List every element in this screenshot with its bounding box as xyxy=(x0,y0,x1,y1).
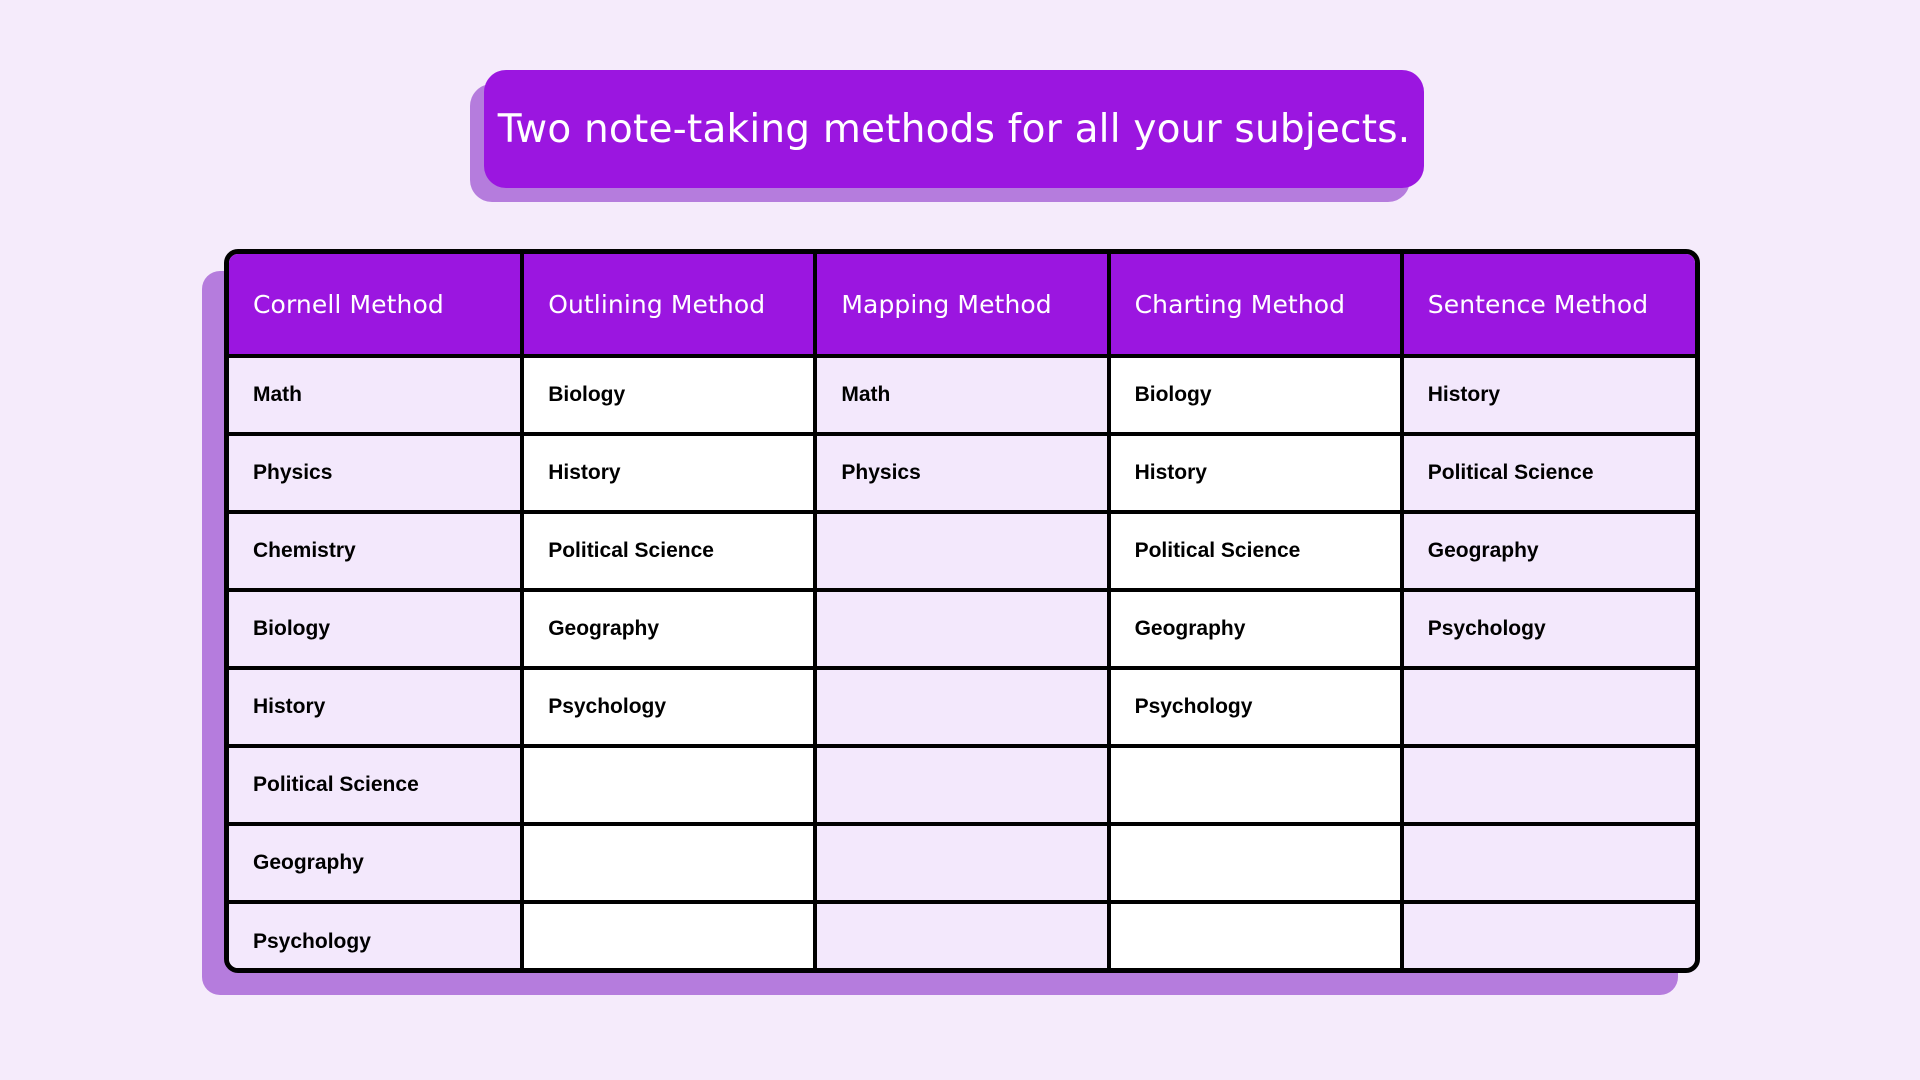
table-cell: Physics xyxy=(229,434,522,512)
methods-table-frame: Cornell MethodOutlining MethodMapping Me… xyxy=(224,249,1700,973)
methods-table-container: Cornell MethodOutlining MethodMapping Me… xyxy=(224,249,1700,973)
table-cell xyxy=(1109,902,1402,973)
table-cell: Chemistry xyxy=(229,512,522,590)
table-column-header-2[interactable]: Outlining Method xyxy=(522,254,815,356)
table-cell xyxy=(815,902,1108,973)
table-cell: Geography xyxy=(229,824,522,902)
table-cell: Political Science xyxy=(1109,512,1402,590)
table-cell xyxy=(1402,668,1695,746)
table-row: HistoryPsychologyPsychology xyxy=(229,668,1695,746)
table-cell xyxy=(815,590,1108,668)
table-cell: Psychology xyxy=(522,668,815,746)
table-column-header-5[interactable]: Sentence Method xyxy=(1402,254,1695,356)
table-body: MathBiologyMathBiologyHistoryPhysicsHist… xyxy=(229,356,1695,973)
table-cell xyxy=(522,902,815,973)
page-title: Two note-taking methods for all your sub… xyxy=(498,107,1411,152)
table-cell: History xyxy=(522,434,815,512)
table-cell xyxy=(815,746,1108,824)
table-cell: History xyxy=(229,668,522,746)
table-cell: Physics xyxy=(815,434,1108,512)
table-cell xyxy=(815,512,1108,590)
table-cell xyxy=(522,824,815,902)
table-cell xyxy=(1109,746,1402,824)
table-cell xyxy=(1109,824,1402,902)
table-header-row: Cornell MethodOutlining MethodMapping Me… xyxy=(229,254,1695,356)
table-row: PhysicsHistoryPhysicsHistoryPolitical Sc… xyxy=(229,434,1695,512)
table-cell: Biology xyxy=(229,590,522,668)
table-cell xyxy=(815,668,1108,746)
table-cell: Geography xyxy=(1402,512,1695,590)
table-row: Geography xyxy=(229,824,1695,902)
table-cell: Psychology xyxy=(1402,590,1695,668)
table-cell: Psychology xyxy=(229,902,522,973)
methods-table: Cornell MethodOutlining MethodMapping Me… xyxy=(229,254,1695,973)
table-cell: Math xyxy=(229,356,522,434)
table-column-header-1[interactable]: Cornell Method xyxy=(229,254,522,356)
table-cell: Geography xyxy=(522,590,815,668)
table-cell: History xyxy=(1109,434,1402,512)
title-banner-body: Two note-taking methods for all your sub… xyxy=(484,70,1424,188)
table-cell: Biology xyxy=(1109,356,1402,434)
table-cell xyxy=(1402,902,1695,973)
table-column-header-4[interactable]: Charting Method xyxy=(1109,254,1402,356)
table-cell xyxy=(1402,824,1695,902)
table-cell: History xyxy=(1402,356,1695,434)
table-cell: Political Science xyxy=(229,746,522,824)
table-cell xyxy=(1402,746,1695,824)
title-banner: Two note-taking methods for all your sub… xyxy=(484,70,1424,188)
table-cell: Math xyxy=(815,356,1108,434)
table-cell: Political Science xyxy=(522,512,815,590)
table-cell: Biology xyxy=(522,356,815,434)
table-column-header-3[interactable]: Mapping Method xyxy=(815,254,1108,356)
table-cell xyxy=(815,824,1108,902)
table-row: ChemistryPolitical SciencePolitical Scie… xyxy=(229,512,1695,590)
table-row: Psychology xyxy=(229,902,1695,973)
table-cell: Psychology xyxy=(1109,668,1402,746)
table-row: MathBiologyMathBiologyHistory xyxy=(229,356,1695,434)
table-row: BiologyGeographyGeographyPsychology xyxy=(229,590,1695,668)
table-cell: Political Science xyxy=(1402,434,1695,512)
table-cell xyxy=(522,746,815,824)
table-row: Political Science xyxy=(229,746,1695,824)
table-cell: Geography xyxy=(1109,590,1402,668)
table-header: Cornell MethodOutlining MethodMapping Me… xyxy=(229,254,1695,356)
